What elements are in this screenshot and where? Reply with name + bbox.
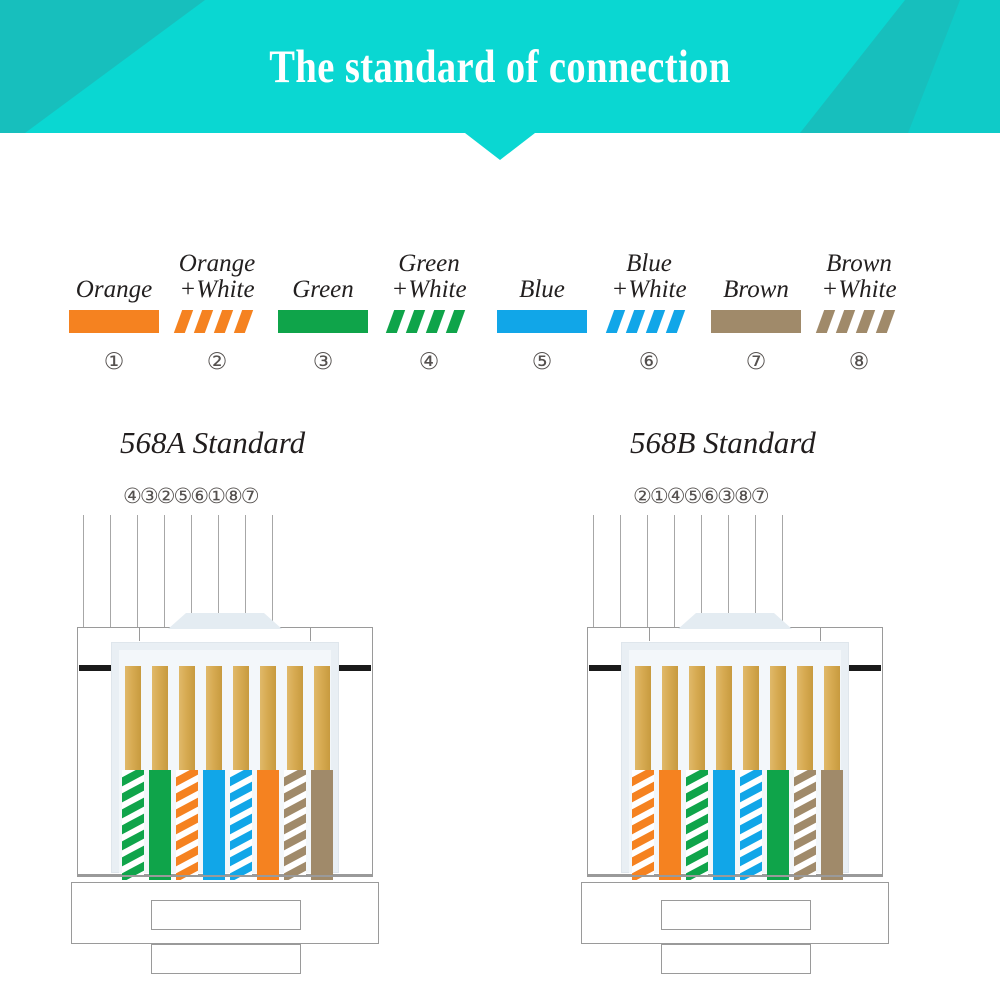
connector-latch-clip (678, 613, 792, 629)
legend-swatch-brown-white (814, 310, 904, 333)
wire-8 (311, 770, 333, 880)
contact-pin (152, 666, 168, 774)
legend-number: ⑧ (800, 349, 918, 375)
contact-pin (662, 666, 678, 774)
legend-number: ⑤ (483, 349, 601, 375)
contact-pin (824, 666, 840, 774)
contact-pin (770, 666, 786, 774)
legend-label: Blue +White (590, 251, 708, 303)
contact-pin (797, 666, 813, 774)
contact-pin (179, 666, 195, 774)
wire-4 (713, 770, 735, 880)
legend-item-8: Brown +White ⑧ (800, 215, 918, 375)
legend-label: Green +White (370, 251, 488, 303)
legend-number: ② (158, 349, 276, 375)
legend-item-2: Orange +White ② (158, 215, 276, 375)
wire-3 (686, 770, 708, 880)
contact-pin (206, 666, 222, 774)
banner-notch-triangle (465, 133, 535, 160)
wire-8 (821, 770, 843, 880)
legend-number: ③ (264, 349, 382, 375)
standard-b-pin-sequence: ②①④⑤⑥③⑧⑦ (633, 484, 768, 508)
cable-boot-inner-rect (661, 900, 811, 930)
rj45-connector-568a (65, 600, 385, 990)
legend-label: Blue (483, 277, 601, 303)
contact-pin (314, 666, 330, 774)
wire-1 (632, 770, 654, 880)
wiring-standard-infographic: The standard of connection Orange ① Oran… (0, 0, 1000, 1000)
contact-pin (635, 666, 651, 774)
connector-latch-step-left (649, 627, 679, 641)
legend-swatch-green-white (384, 310, 474, 333)
contact-pin (233, 666, 249, 774)
wire-color-legend: Orange ① Orange +White ② Green (0, 215, 1000, 375)
contact-pin (125, 666, 141, 774)
wire-5 (740, 770, 762, 880)
legend-number: ⑦ (697, 349, 815, 375)
contact-pin (689, 666, 705, 774)
connector-latch-step-right (281, 627, 311, 641)
legend-swatch-green (278, 310, 368, 333)
standard-b-title: 568B Standard (630, 425, 816, 461)
legend-item-5: Blue ⑤ (483, 215, 601, 375)
contact-pin (287, 666, 303, 774)
legend-label: Brown (697, 277, 815, 303)
connector-latch-step-right (791, 627, 821, 641)
contact-pin (743, 666, 759, 774)
standard-a-pin-sequence: ④③②⑤⑥①⑧⑦ (123, 484, 258, 508)
legend-swatch-orange (69, 310, 159, 333)
cable-boot-lower-rect (151, 944, 301, 974)
legend-number: ⑥ (590, 349, 708, 375)
legend-number: ① (55, 349, 173, 375)
legend-swatch-blue (497, 310, 587, 333)
connector-latch-clip (168, 613, 282, 629)
wire-7 (794, 770, 816, 880)
connector-base-line (587, 875, 883, 877)
page-title: The standard of connection (90, 0, 910, 133)
connector-tab-right (849, 665, 881, 671)
wire-1 (122, 770, 144, 880)
wire-2 (659, 770, 681, 880)
connector-tab-left (79, 665, 111, 671)
cable-boot-inner-rect (151, 900, 301, 930)
legend-swatch-orange-white (172, 310, 262, 333)
rj45-connector-568b (575, 600, 895, 990)
connector-latch-step-left (139, 627, 169, 641)
legend-label: Orange +White (158, 251, 276, 303)
connector-base-line (77, 875, 373, 877)
wire-4 (203, 770, 225, 880)
contact-pin (260, 666, 276, 774)
contact-pin (716, 666, 732, 774)
legend-swatch-blue-white (604, 310, 694, 333)
legend-number: ④ (370, 349, 488, 375)
legend-label: Green (264, 277, 382, 303)
wire-5 (230, 770, 252, 880)
wire-7 (284, 770, 306, 880)
header-banner: The standard of connection (0, 0, 1000, 133)
legend-item-1: Orange ① (55, 215, 173, 375)
wire-2 (149, 770, 171, 880)
wire-6 (767, 770, 789, 880)
connector-tab-right (339, 665, 371, 671)
legend-swatch-brown (711, 310, 801, 333)
legend-item-6: Blue +White ⑥ (590, 215, 708, 375)
legend-item-4: Green +White ④ (370, 215, 488, 375)
legend-item-7: Brown ⑦ (697, 215, 815, 375)
wire-6 (257, 770, 279, 880)
connector-tab-left (589, 665, 621, 671)
cable-boot-lower-rect (661, 944, 811, 974)
legend-label: Brown +White (800, 251, 918, 303)
legend-label: Orange (55, 277, 173, 303)
wire-3 (176, 770, 198, 880)
legend-item-3: Green ③ (264, 215, 382, 375)
standard-a-title: 568A Standard (120, 425, 305, 461)
